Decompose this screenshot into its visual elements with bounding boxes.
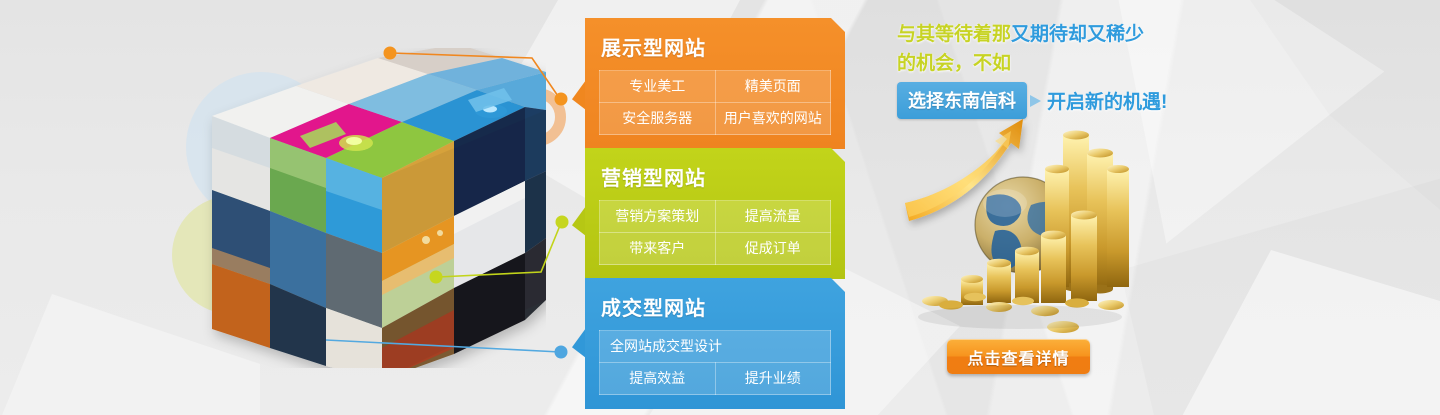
table-row: 专业美工 精美页面 <box>600 71 831 103</box>
panel-notch-green <box>572 206 586 236</box>
feature-cell[interactable]: 带来客户 <box>600 233 716 265</box>
view-details-button[interactable]: 点击查看详情 <box>947 339 1090 374</box>
panel-title: 营销型网站 <box>601 162 831 191</box>
website-collage-cube <box>196 48 546 368</box>
panel-feature-table: 营销方案策划 提高流量 带来客户 促成订单 <box>599 200 831 265</box>
banner: 展示型网站 专业美工 精美页面 安全服务器 用户喜欢的网站 营销型网站 营销方案… <box>0 0 1440 415</box>
panel-notch-blue <box>572 328 586 358</box>
panel-marketing-website[interactable]: 营销型网站 营销方案策划 提高流量 带来客户 促成订单 <box>585 148 845 279</box>
feature-cell[interactable]: 提高流量 <box>715 201 831 233</box>
slogan-line-1-part-b: 又期待却又稀少 <box>1011 24 1144 45</box>
feature-cell[interactable]: 营销方案策划 <box>600 201 716 233</box>
feature-cell[interactable]: 安全服务器 <box>600 103 716 135</box>
panel-feature-table: 专业美工 精美页面 安全服务器 用户喜欢的网站 <box>599 70 831 135</box>
table-row: 营销方案策划 提高流量 <box>600 201 831 233</box>
slogan-line-1: 与其等待着那又期待却又稀少 <box>897 20 1187 49</box>
finance-graphic <box>895 105 1130 345</box>
panel-feature-table: 全网站成交型设计 提高效益 提升业绩 <box>599 330 831 395</box>
table-row: 安全服务器 用户喜欢的网站 <box>600 103 831 135</box>
feature-cell[interactable]: 精美页面 <box>715 71 831 103</box>
feature-cell[interactable]: 促成订单 <box>715 233 831 265</box>
feature-cell[interactable]: 提升业绩 <box>715 363 831 395</box>
panel-title: 成交型网站 <box>601 292 831 321</box>
feature-cell[interactable]: 全网站成交型设计 <box>600 331 831 363</box>
background-facet-shard <box>1120 150 1440 415</box>
table-row: 带来客户 促成订单 <box>600 233 831 265</box>
feature-cell[interactable]: 提高效益 <box>600 363 716 395</box>
globe-with-gold-coin-stacks-and-rising-arrow <box>895 105 1130 345</box>
panel-conversion-website[interactable]: 成交型网站 全网站成交型设计 提高效益 提升业绩 <box>585 278 845 409</box>
table-row: 全网站成交型设计 <box>600 331 831 363</box>
background-facet-shard <box>1180 250 1440 415</box>
feature-cell[interactable]: 用户喜欢的网站 <box>715 103 831 135</box>
panel-display-website[interactable]: 展示型网站 专业美工 精美页面 安全服务器 用户喜欢的网站 <box>585 18 845 149</box>
panel-notch-orange <box>572 80 586 110</box>
feature-cell[interactable]: 专业美工 <box>600 71 716 103</box>
slogan-line-2: 的机会，不如 <box>897 49 1187 78</box>
table-row: 提高效益 提升业绩 <box>600 363 831 395</box>
green-connector-dot <box>556 216 569 229</box>
cube-graphic <box>196 48 546 368</box>
blue-connector-dot <box>555 346 568 359</box>
background-facet-shard <box>1250 0 1440 210</box>
panel-title: 展示型网站 <box>601 32 831 61</box>
slogan-line-1-part-a: 与其等待着那 <box>897 24 1011 45</box>
orange-connector-dot <box>555 93 568 106</box>
